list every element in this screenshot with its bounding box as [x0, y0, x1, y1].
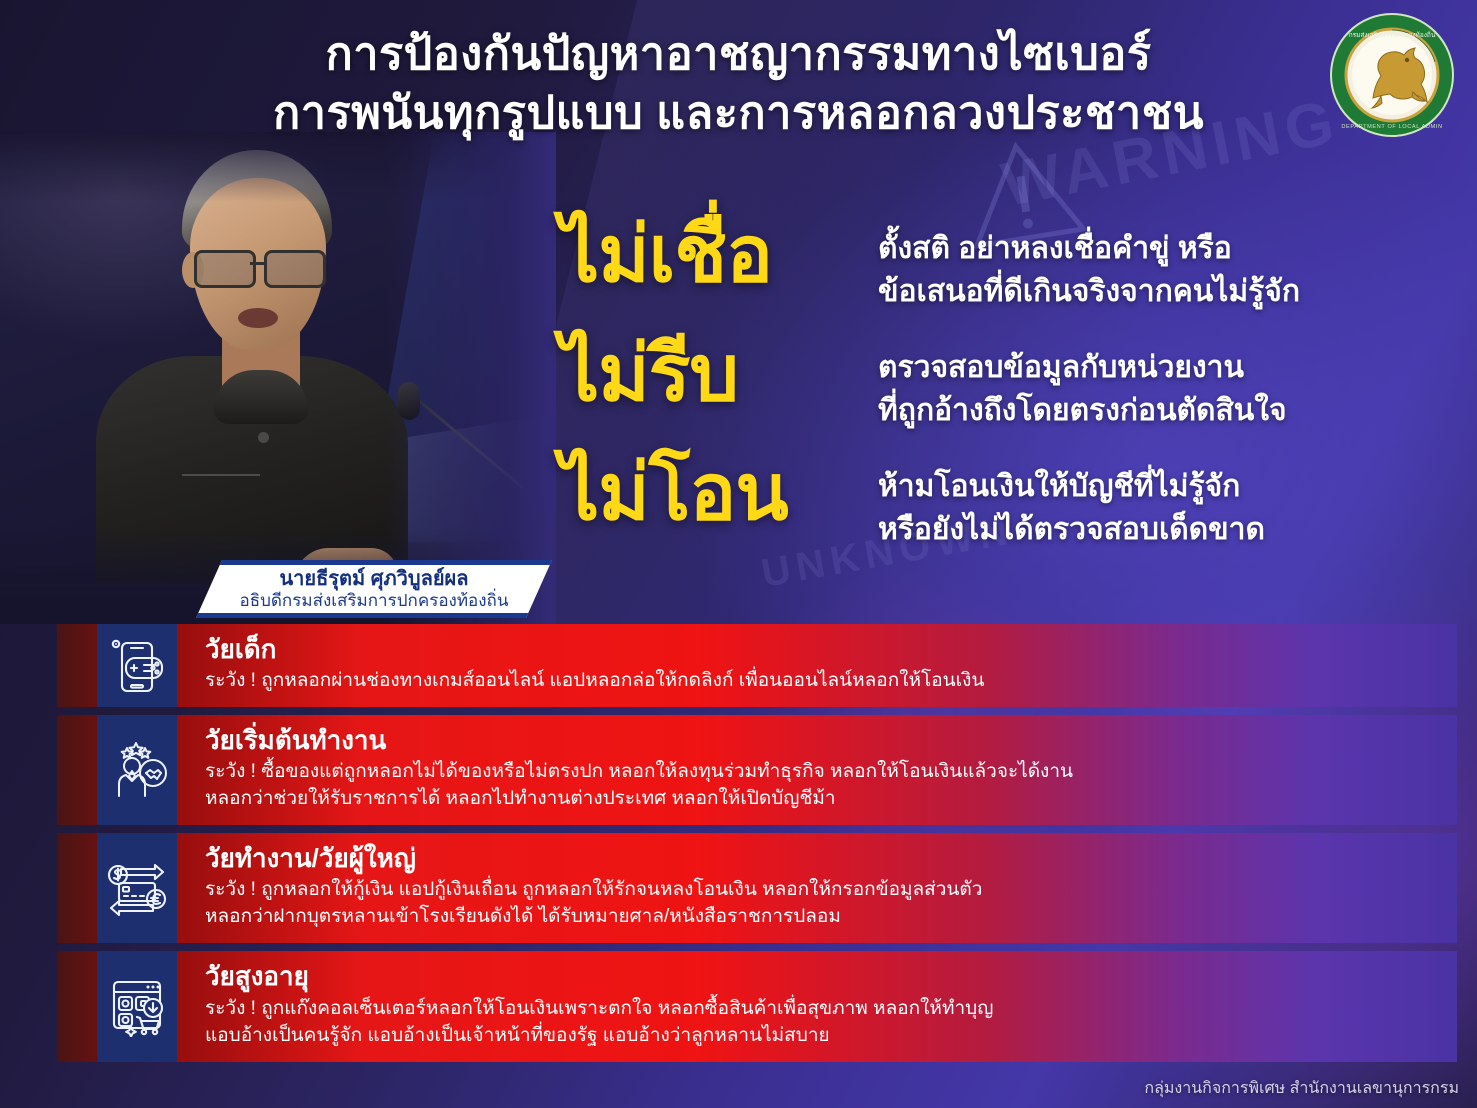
age-row-lines: ระวัง ! ซื้อของแต่ถูกหลอกไม่ได้ของหรือไม… — [205, 759, 1439, 813]
row-content: วัยทำงาน/วัยผู้ใหญ่ ระวัง ! ถูกหลอกให้กู… — [177, 833, 1457, 943]
online-shopping-cart-browser-icon — [97, 951, 177, 1061]
slogan-desc-1-line-2: ข้อเสนอที่ดีเกินจริงจากคนไม่รู้จัก — [878, 271, 1440, 314]
slogan-desc-1-line-1: ตั้งสติ อย่าหลงเชื่อคำขู่ หรือ — [878, 228, 1440, 271]
age-row-elderly: วัยสูงอายุ ระวัง ! ถูกแก๊งคอลเซ็นเตอร์หล… — [57, 951, 1457, 1061]
row-left-bar — [57, 715, 97, 825]
glasses-icon — [190, 250, 330, 284]
row-content: วัยเริ่มต้นทำงาน ระวัง ! ซื้อของแต่ถูกหล… — [177, 715, 1457, 825]
speaker-button — [258, 432, 269, 443]
slogan-item-1: ไม่เชื่อ ตั้งสติ อย่าหลงเชื่อคำขู่ หรือ … — [560, 212, 1440, 313]
age-row-line-1: ระวัง ! ซื้อของแต่ถูกหลอกไม่ได้ของหรือไม… — [205, 759, 1439, 786]
mobile-game-controller-icon — [97, 624, 177, 707]
age-row-child: วัยเด็ก ระวัง ! ถูกหลอกผ่านช่องทางเกมส์อ… — [57, 624, 1457, 707]
age-row-lines: ระวัง ! ถูกแก๊งคอลเซ็นเตอร์หลอกให้โอนเงิ… — [205, 996, 1439, 1050]
age-row-title: วัยเด็ก — [205, 634, 1439, 665]
row-content: วัยสูงอายุ ระวัง ! ถูกแก๊งคอลเซ็นเตอร์หล… — [177, 951, 1457, 1061]
age-group-list: วัยเด็ก ระวัง ! ถูกหลอกผ่านช่องทางเกมส์อ… — [57, 624, 1457, 1070]
title-line-1: การป้องกันปัญหาอาชญากรรมทางไซเบอร์ — [0, 24, 1477, 83]
slogan-desc-3-line-1: ห้ามโอนเงินให้บัญชีที่ไม่รู้จัก — [878, 466, 1440, 509]
age-row-line-1: ระวัง ! ถูกหลอกให้กู้เงิน แอปกู้เงินเถื่… — [205, 877, 1439, 904]
infographic-poster: WARNING UNKNOWN การป้องกั — [0, 0, 1477, 1108]
slogan-desc-3-line-2: หรือยังไม่ได้ตรวจสอบเด็ดขาด — [878, 509, 1440, 552]
age-row-line-2: หลอกว่าฝากบุตรหลานเข้าโรงเรียนดังได้ ได้… — [205, 904, 1439, 931]
speaker-name-banner: นายธีรุตม์ ศุภวิบูลย์ผล อธิบดีกรมส่งเสริ… — [196, 560, 552, 618]
footer-credit: กลุ่มงานกิจการพิเศษ สำนักงานเลขานุการกรม — [1144, 1076, 1459, 1101]
row-left-bar — [57, 624, 97, 707]
svg-text:กรมส่งเสริมการปกครองท้องถิ่น: กรมส่งเสริมการปกครองท้องถิ่น — [1349, 30, 1436, 39]
slogan-item-3: ไม่โอน ห้ามโอนเงินให้บัญชีที่ไม่รู้จัก ห… — [560, 450, 1440, 551]
dla-seal-icon: กรมส่งเสริมการปกครองท้องถิ่น DEPARTMENT … — [1329, 12, 1455, 138]
speaker-pocket — [182, 474, 260, 476]
age-row-early-career: วัยเริ่มต้นทำงาน ระวัง ! ซื้อของแต่ถูกหล… — [57, 715, 1457, 825]
slogan-desc-2-line-1: ตรวจสอบข้อมูลกับหน่วยงาน — [878, 347, 1440, 390]
slogan-key-2: ไม่รีบ — [560, 331, 878, 417]
slogan-list: ไม่เชื่อ ตั้งสติ อย่าหลงเชื่อคำขู่ หรือ … — [560, 212, 1440, 570]
slogan-key-1: ไม่เชื่อ — [560, 212, 878, 298]
age-row-lines: ระวัง ! ถูกหลอกผ่านช่องทางเกมส์ออนไลน์ แ… — [205, 668, 1439, 695]
title-line-2: การพนันทุกรูปแบบ และการหลอกลวงประชาชน — [0, 83, 1477, 142]
svg-text:DEPARTMENT OF LOCAL ADMIN: DEPARTMENT OF LOCAL ADMIN — [1341, 124, 1442, 130]
speaker-photo — [0, 132, 556, 624]
age-row-line-2: หลอกว่าช่วยให้รับราชการได้ หลอกไปทำงานต่… — [205, 786, 1439, 813]
speaker-mouth — [238, 308, 278, 328]
row-content: วัยเด็ก ระวัง ! ถูกหลอกผ่านช่องทางเกมส์อ… — [177, 624, 1457, 707]
age-row-line-1: ระวัง ! ถูกแก๊งคอลเซ็นเตอร์หลอกให้โอนเงิ… — [205, 996, 1439, 1023]
age-row-title: วัยเริ่มต้นทำงาน — [205, 725, 1439, 756]
age-row-title: วัยทำงาน/วัยผู้ใหญ่ — [205, 843, 1439, 874]
speaker-position: อธิบดีกรมส่งเสริมการปกครองท้องถิ่น — [240, 591, 509, 610]
slogan-desc-1: ตั้งสติ อย่าหลงเชื่อคำขู่ หรือ ข้อเสนอที… — [878, 212, 1440, 313]
age-row-lines: ระวัง ! ถูกหลอกให้กู้เงิน แอปกู้เงินเถื่… — [205, 877, 1439, 931]
slogan-desc-2: ตรวจสอบข้อมูลกับหน่วยงาน ที่ถูกอ้างถึงโด… — [878, 331, 1440, 432]
money-transfer-dollar-euro-icon — [97, 833, 177, 943]
age-row-title: วัยสูงอายุ — [205, 961, 1439, 992]
slogan-item-2: ไม่รีบ ตรวจสอบข้อมูลกับหน่วยงาน ที่ถูกอ้… — [560, 331, 1440, 432]
page-title: การป้องกันปัญหาอาชญากรรมทางไซเบอร์ การพน… — [0, 24, 1477, 143]
age-row-line-1: ระวัง ! ถูกหลอกผ่านช่องทางเกมส์ออนไลน์ แ… — [205, 668, 1439, 695]
row-left-bar — [57, 951, 97, 1061]
age-row-working-adult: วัยทำงาน/วัยผู้ใหญ่ ระวัง ! ถูกหลอกให้กู… — [57, 833, 1457, 943]
businessman-handshake-stars-icon — [97, 715, 177, 825]
speaker-name: นายธีรุตม์ ศุภวิบูลย์ผล — [279, 568, 468, 590]
row-left-bar — [57, 833, 97, 943]
slogan-desc-3: ห้ามโอนเงินให้บัญชีที่ไม่รู้จัก หรือยังไ… — [878, 450, 1440, 551]
age-row-line-2: แอบอ้างเป็นคนรู้จัก แอบอ้างเป็นเจ้าหน้าท… — [205, 1023, 1439, 1050]
photo-fade-right — [386, 132, 556, 624]
slogan-desc-2-line-2: ที่ถูกอ้างถึงโดยตรงก่อนตัดสินใจ — [878, 390, 1440, 433]
slogan-key-3: ไม่โอน — [560, 450, 878, 536]
